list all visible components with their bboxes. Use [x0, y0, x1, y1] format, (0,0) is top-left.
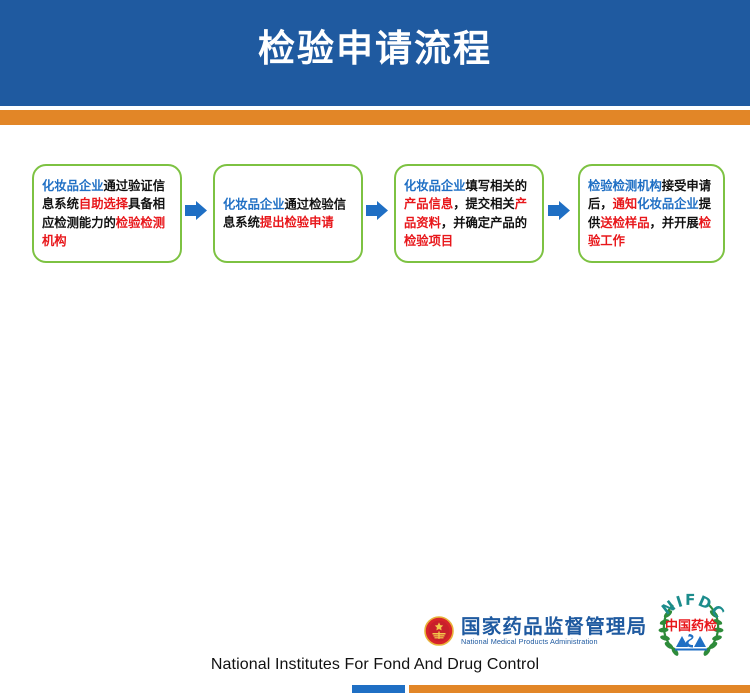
text-run: 化妆品企业 — [223, 197, 285, 211]
text-run: 提出检验申请 — [260, 216, 334, 230]
flow-step-2[interactable]: 化妆品企业通过检验信息系统提出检验申请 — [213, 164, 363, 263]
arrow-2-icon — [366, 201, 388, 220]
flow-step-1[interactable]: 化妆品企业通过验证信息系统自助选择具备相应检测能力的检验检测机构 — [32, 164, 182, 263]
text-run: ，提交相关 — [453, 197, 515, 211]
text-run: 填写相关的 — [466, 179, 528, 193]
nifdc-cn-text: 中国药检 — [665, 618, 717, 634]
flow-step-3-text: 化妆品企业填写相关的产品信息，提交相关产品资料，并确定产品的检验项目 — [404, 177, 536, 251]
text-run: 产品信息 — [404, 197, 453, 211]
text-run: 送检样品 — [600, 216, 649, 230]
svg-text:NIFDC: NIFDC — [658, 591, 729, 623]
text-run: 检验检测机构 — [588, 179, 662, 193]
flow-step-4[interactable]: 检验检测机构接受申请后，通知化妆品企业提供送检样品，并开展检验工作 — [578, 164, 725, 263]
text-run: 化妆品企业 — [637, 197, 699, 211]
arrow-1-icon — [185, 201, 207, 220]
nmpa-name-cn: 国家药品监督管理局 — [461, 617, 647, 637]
text-run: ，并确定产品的 — [441, 216, 527, 230]
national-emblem-icon — [424, 616, 454, 646]
arrow-3-icon — [548, 201, 570, 220]
footer-english-title: National Institutes For Fond And Drug Co… — [0, 656, 750, 674]
bottom-bar-orange-segment — [409, 685, 750, 693]
flow-step-1-text: 化妆品企业通过验证信息系统自助选择具备相应检测能力的检验检测机构 — [42, 177, 174, 251]
text-run: ，并开展 — [650, 216, 699, 230]
text-run: 检验项目 — [404, 234, 453, 248]
flowchart: 化妆品企业通过验证信息系统自助选择具备相应检测能力的检验检测机构 化妆品企业通过… — [0, 164, 750, 264]
text-run: 化妆品企业 — [42, 179, 104, 193]
flow-step-4-text: 检验检测机构接受申请后，通知化妆品企业提供送检样品，并开展检验工作 — [588, 177, 717, 251]
text-run: 化妆品企业 — [404, 179, 466, 193]
page-title: 检验申请流程 — [0, 23, 750, 75]
footer: 国家药品监督管理局 National Medical Products Admi… — [0, 290, 750, 413]
text-run: 自助选择 — [79, 197, 128, 211]
header-accent-bar — [0, 110, 750, 125]
nifdc-logo: NIFDC 中国药检 — [651, 589, 731, 663]
flow-step-2-text: 化妆品企业通过检验信息系统提出检验申请 — [223, 195, 355, 232]
bottom-bar-blue-segment — [352, 685, 405, 693]
nmpa-logo: 国家药品监督管理局 National Medical Products Admi… — [424, 616, 647, 646]
text-run: 通知 — [613, 197, 638, 211]
flow-step-3[interactable]: 化妆品企业填写相关的产品信息，提交相关产品资料，并确定产品的检验项目 — [394, 164, 544, 263]
nmpa-logo-text: 国家药品监督管理局 National Medical Products Admi… — [461, 617, 647, 646]
nmpa-name-en: National Medical Products Administration — [461, 638, 647, 645]
nifdc-acronym-text: NIFDC — [658, 591, 729, 623]
